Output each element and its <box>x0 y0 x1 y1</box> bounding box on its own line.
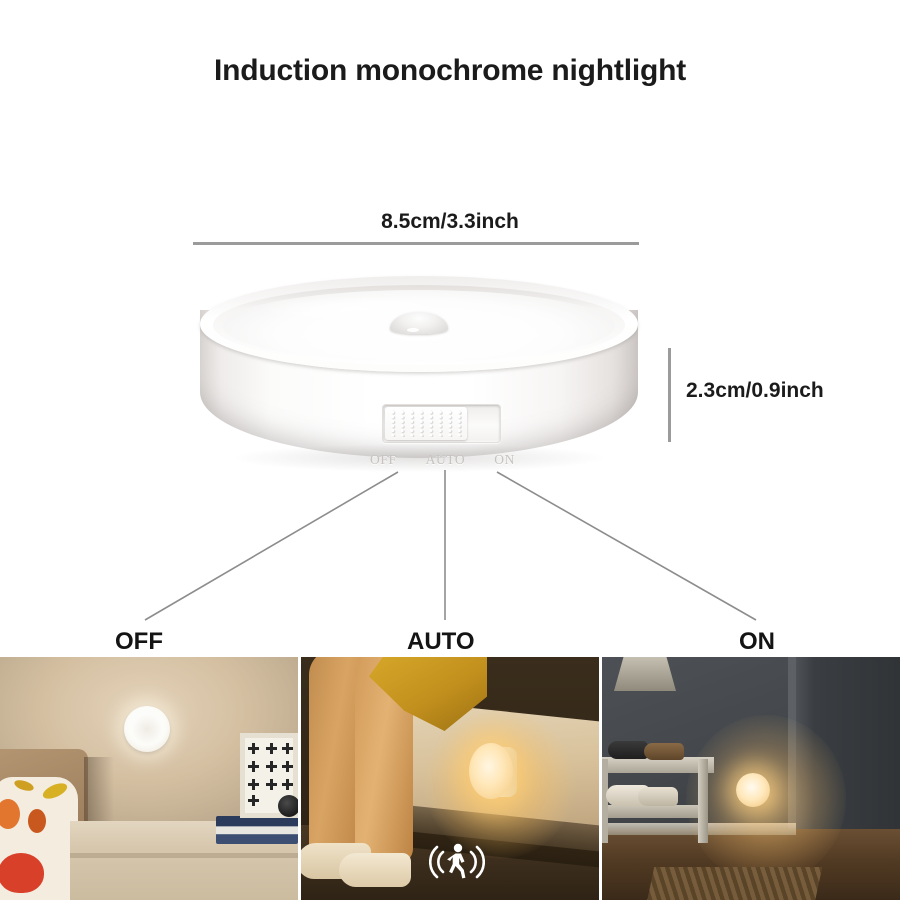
sensor-glint <box>407 328 419 332</box>
decor-sphere <box>278 795 298 817</box>
leader-line-off <box>145 472 398 620</box>
slipper-right <box>339 853 411 887</box>
product-image: OFF AUTO ON <box>200 276 638 488</box>
shoe-sandal <box>608 741 648 759</box>
page-title: Induction monochrome nightlight <box>0 54 900 88</box>
callout-label-on: ON <box>739 628 775 656</box>
switch-engraved-labels: OFF AUTO ON <box>370 452 515 468</box>
switch-grip-texture <box>388 410 464 437</box>
nightlight-lit <box>736 773 770 807</box>
power-mode-switch[interactable] <box>382 404 501 443</box>
motion-sensor-icon <box>429 839 485 885</box>
switch-slider-handle[interactable] <box>385 407 467 440</box>
photo-bedroom <box>0 657 298 900</box>
nightstand-edge <box>70 853 298 858</box>
patterned-pillow <box>0 777 78 900</box>
dimension-height-label: 2.3cm/0.9inch <box>686 379 824 403</box>
pillow-animal-motif <box>0 799 20 829</box>
pillow-leaf-motif-2 <box>13 778 35 793</box>
nightlight-lens-ring <box>132 714 162 744</box>
switch-label-off: OFF <box>370 452 397 468</box>
pillow-animal-motif-2 <box>28 809 46 833</box>
stacked-books <box>216 816 298 844</box>
shoe-rack-shelf <box>602 805 708 818</box>
shoe-rack-leg <box>698 759 708 843</box>
callout-label-off: OFF <box>115 628 163 656</box>
switch-label-on: ON <box>494 452 515 468</box>
leader-line-on <box>497 472 756 620</box>
photo-hallway <box>602 657 900 900</box>
pillow-leaf-motif <box>41 780 70 802</box>
photo-bedside <box>301 657 599 900</box>
shoe-sneaker-2 <box>638 787 678 806</box>
dimension-width-line <box>193 242 639 245</box>
pillow-fox-motif <box>0 853 44 893</box>
switch-label-auto: AUTO <box>426 452 466 468</box>
photo-strip <box>0 657 900 900</box>
woven-rug <box>646 867 823 900</box>
callout-label-auto: AUTO <box>407 628 475 656</box>
nightlight-lit <box>469 743 513 799</box>
dimension-width-label: 8.5cm/3.3inch <box>0 210 900 234</box>
hanging-coat <box>614 657 676 691</box>
shoe-loafer <box>644 743 684 760</box>
dimension-height-line <box>668 348 671 442</box>
